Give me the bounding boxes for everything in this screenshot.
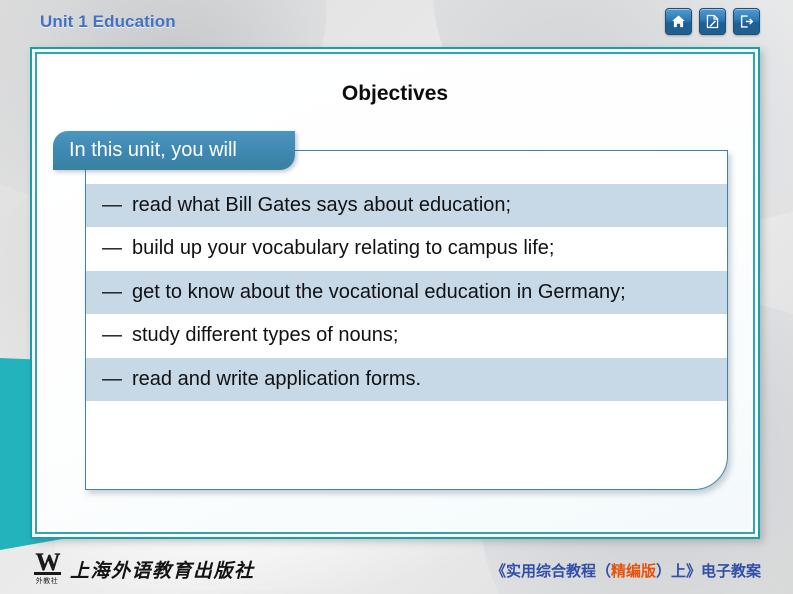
list-item-dash: — <box>102 191 132 219</box>
list-item-label: build up your vocabulary relating to cam… <box>132 234 717 262</box>
slide-footer: W 外教社 上海外语教育出版社 《实用综合教程（精编版）上》电子教案 <box>0 546 793 594</box>
slide-header: Unit 1 Education <box>0 0 793 44</box>
page-title: Unit 1 Education <box>40 12 176 32</box>
list-item: — build up your vocabulary relating to c… <box>86 227 727 270</box>
list-item: — get to know about the vocational educa… <box>86 271 727 314</box>
list-item: — read what Bill Gates says about educat… <box>86 184 727 227</box>
logo-letter: W <box>36 551 59 574</box>
footer-caption-highlight: 精编版 <box>611 562 656 580</box>
list-item-label: read what Bill Gates says about educatio… <box>132 191 717 219</box>
footer-caption-prefix: 《实用综合教程（ <box>491 562 611 580</box>
navigation-button-group <box>665 8 760 35</box>
slide-title: Objectives <box>39 82 751 106</box>
publisher-name: 上海外语教育出版社 <box>70 556 255 586</box>
notes-icon-button[interactable] <box>699 8 726 35</box>
logo-subtext: 外教社 <box>36 576 59 586</box>
slide-panel: Objectives — read what Bill Gates says a… <box>30 47 760 539</box>
slide-panel-face: Objectives — read what Bill Gates says a… <box>39 56 751 530</box>
list-item-label: study different types of nouns; <box>132 321 717 349</box>
logo-underline <box>34 572 61 575</box>
list-item-dash: — <box>102 278 132 306</box>
callout-banner: In this unit, you will <box>53 131 295 170</box>
list-item-dash: — <box>102 234 132 262</box>
notes-icon <box>705 14 720 29</box>
footer-caption: 《实用综合教程（精编版）上》电子教案 <box>491 560 761 581</box>
objectives-content-box: — read what Bill Gates says about educat… <box>85 150 728 490</box>
list-item-label: read and write application forms. <box>132 365 717 393</box>
exit-icon-button[interactable] <box>733 8 760 35</box>
home-icon <box>671 14 686 29</box>
exit-icon <box>739 14 754 29</box>
publisher-logo: W 外教社 上海外语教育出版社 <box>30 551 255 586</box>
list-item: — read and write application forms. <box>86 358 727 401</box>
footer-caption-suffix: ）上》电子教案 <box>656 562 761 580</box>
list-item: — study different types of nouns; <box>86 314 727 357</box>
objectives-list: — read what Bill Gates says about educat… <box>86 184 727 401</box>
publisher-logo-mark: W 外教社 <box>30 551 64 586</box>
home-icon-button[interactable] <box>665 8 692 35</box>
list-item-label: get to know about the vocational educati… <box>132 278 717 306</box>
list-item-dash: — <box>102 365 132 393</box>
list-item-dash: — <box>102 321 132 349</box>
